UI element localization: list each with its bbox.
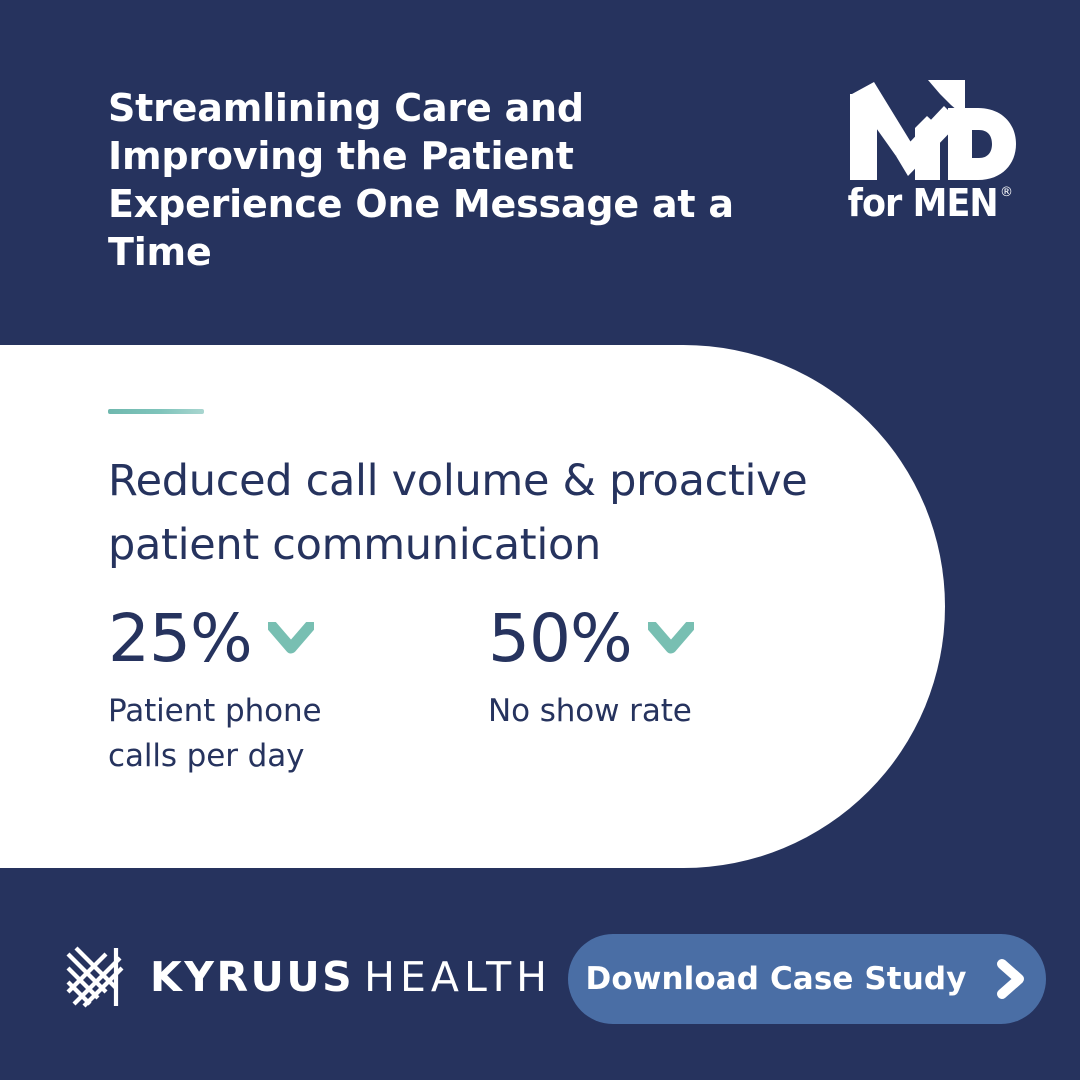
chevron-down-icon [268,622,314,656]
kyruus-k-mark-icon [66,946,124,1008]
kyruus-wordmark-bold: KYRUUS [150,953,354,1001]
stat-value-row: 50% [488,601,868,677]
download-case-study-button[interactable]: Download Case Study [568,934,1046,1024]
kyruus-wordmark-light: HEALTH [364,953,552,1001]
stat-block-no-show-rate: 50% No show rate [488,601,868,779]
svg-text:for MEN: for MEN [848,181,998,222]
poster-header: Streamlining Care and Improving the Pati… [0,0,1080,345]
stats-group: 25% Patient phone calls per day 50% [108,601,868,779]
highlight-card: Reduced call volume & proactive patient … [0,345,945,868]
stat-value: 25% [108,606,252,672]
chevron-right-icon [995,958,1029,1000]
poster-footer: KYRUUSHEALTH Download Case Study [0,868,1080,1080]
highlight-card-content: Reduced call volume & proactive patient … [108,345,868,868]
kyruus-health-logo: KYRUUSHEALTH [66,946,552,1008]
card-title: Reduced call volume & proactive patient … [108,449,868,577]
accent-rule [108,409,204,414]
stat-value-row: 25% [108,601,488,677]
page-title: Streamlining Care and Improving the Pati… [108,84,808,276]
chevron-down-icon [648,622,694,656]
download-case-study-label: Download Case Study [585,964,966,995]
kyruus-wordmark: KYRUUSHEALTH [150,957,552,998]
stat-value: 50% [488,606,632,672]
md-for-men-logo: for MEN ® [844,72,1024,222]
stat-label: Patient phone calls per day [108,689,358,779]
stat-label: No show rate [488,689,738,734]
stat-block-patient-calls: 25% Patient phone calls per day [108,601,488,779]
svg-text:®: ® [1000,185,1013,200]
case-study-poster: Streamlining Care and Improving the Pati… [0,0,1080,1080]
